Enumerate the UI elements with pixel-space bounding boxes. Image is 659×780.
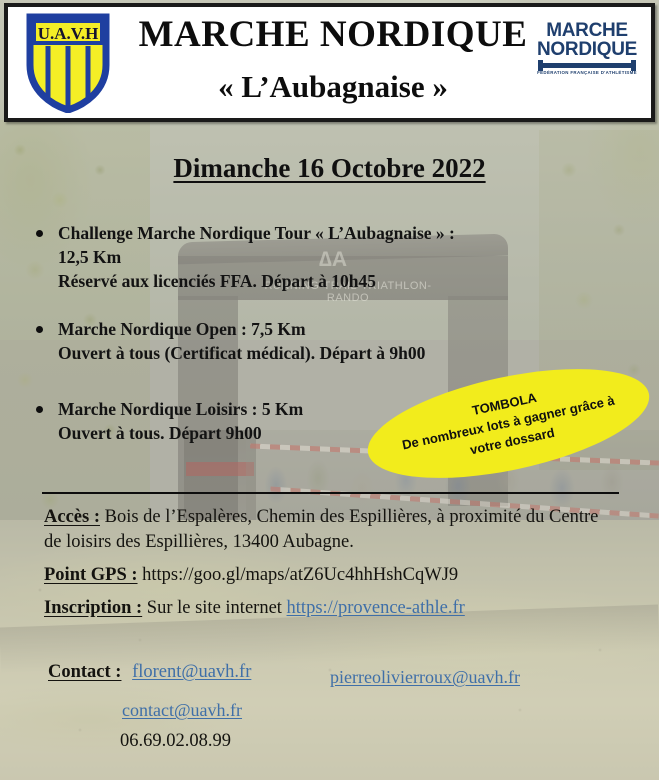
contact-email-2[interactable]: pierreolivierroux@uavh.fr [330, 667, 520, 688]
list-item: Marche Nordique Open : 7,5 Km Ouvert à t… [58, 318, 618, 366]
list-item: Challenge Marche Nordique Tour « L’Aubag… [58, 222, 618, 293]
event-date: Dimanche 16 Octobre 2022 [0, 153, 659, 184]
tombola-badge: TOMBOLA De nombreux lots à gagner grâce … [358, 348, 658, 499]
bullet-dot-icon [36, 406, 43, 413]
gps-value[interactable]: https://goo.gl/maps/atZ6Uc4hhHshCqWJ9 [142, 565, 458, 585]
access-info: Accès : Bois de l’Espalères, Chemin des … [44, 505, 616, 555]
gps-label: Point GPS : [44, 565, 138, 585]
race-distance: 12,5 Km [58, 246, 618, 270]
contact-info: Contact : florent@uavh.fr [48, 662, 251, 683]
race-conditions: Ouvert à tous (Certificat médical). Dépa… [58, 342, 618, 366]
inscription-label: Inscription : [44, 598, 142, 618]
poster-content: Dimanche 16 Octobre 2022 Challenge March… [0, 0, 659, 780]
access-value: Bois de l’Espalères, Chemin des Espilliè… [44, 507, 598, 552]
poster-root: ∆A RUNNING-TRAIL-TRIATHLON-RANDO [0, 0, 659, 780]
contact-email-1[interactable]: florent@uavh.fr [132, 662, 251, 682]
access-label: Accès : [44, 507, 100, 527]
race-conditions: Réservé aux licenciés FFA. Départ à 10h4… [58, 270, 618, 294]
inscription-info: Inscription : Sur le site internet https… [44, 596, 644, 621]
section-divider [42, 492, 619, 494]
contact-label: Contact : [48, 662, 121, 682]
tombola-text-group: TOMBOLA De nombreux lots à gagner grâce … [380, 370, 636, 477]
bullet-dot-icon [36, 230, 43, 237]
race-title: Challenge Marche Nordique Tour « L’Aubag… [58, 222, 618, 246]
gps-info: Point GPS : https://goo.gl/maps/atZ6Uc4h… [44, 563, 644, 588]
contact-phone[interactable]: 06.69.02.08.99 [120, 731, 231, 752]
bullet-dot-icon [36, 326, 43, 333]
contact-email-3[interactable]: contact@uavh.fr [122, 700, 242, 721]
inscription-link[interactable]: https://provence-athle.fr [287, 598, 465, 618]
race-title: Marche Nordique Open : 7,5 Km [58, 318, 618, 342]
inscription-prefix: Sur le site internet [147, 598, 282, 618]
